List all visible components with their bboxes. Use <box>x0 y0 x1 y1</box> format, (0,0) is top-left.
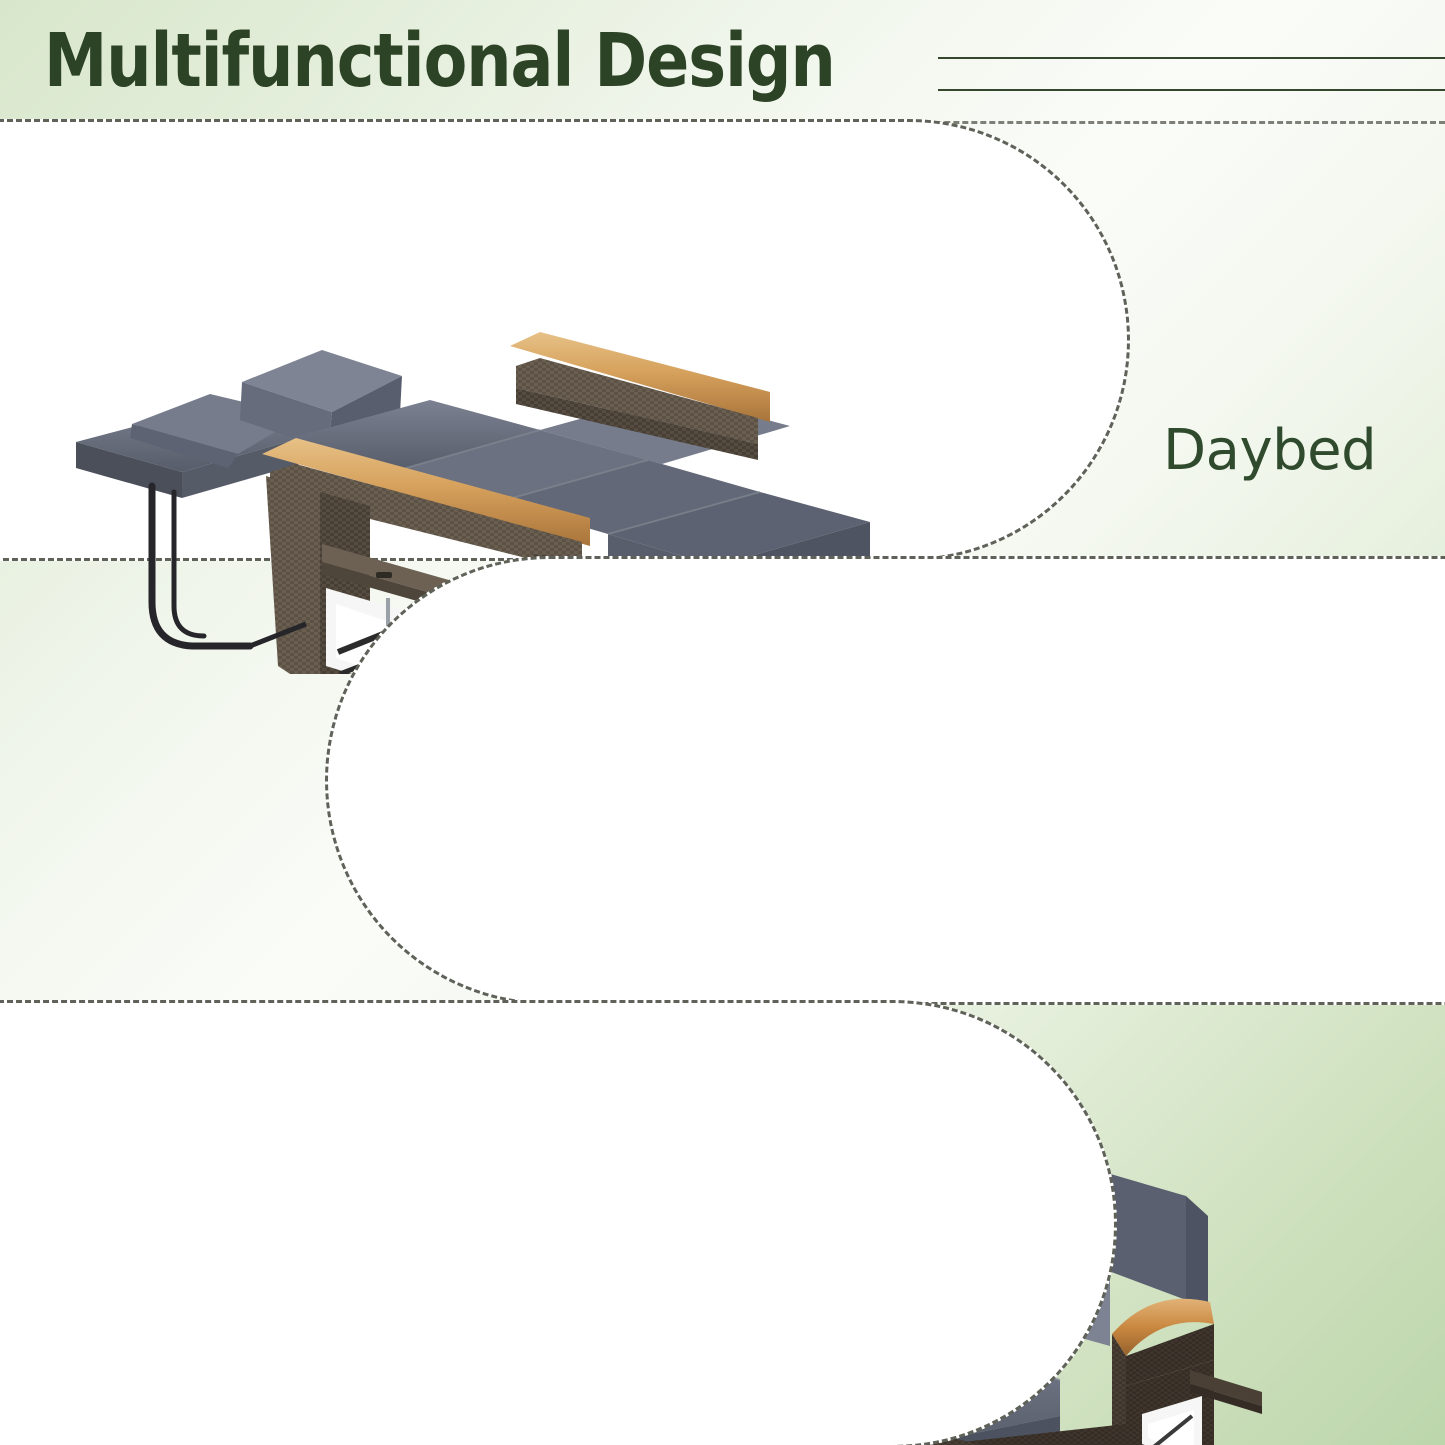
panel-loveseat-coffee-table-set: Loveseat & Coffee Table Set <box>0 559 1445 1002</box>
panel-daybed: Daybed <box>0 122 1445 558</box>
panel-label-daybed: Daybed <box>1163 419 1376 483</box>
infographic-page: Multifunctional Design <box>0 0 1445 1445</box>
title-rule-bottom <box>938 89 1445 91</box>
title-rule-top <box>938 57 1445 59</box>
stage-cushioned-loveseat <box>0 1000 1117 1445</box>
page-title: Multifunctional Design <box>44 18 835 104</box>
header: Multifunctional Design <box>0 0 1445 122</box>
stage-loveseat-coffee-table-set <box>325 556 1445 1005</box>
panel-cushioned-loveseat: Cushioned Loveseat <box>0 1003 1445 1445</box>
